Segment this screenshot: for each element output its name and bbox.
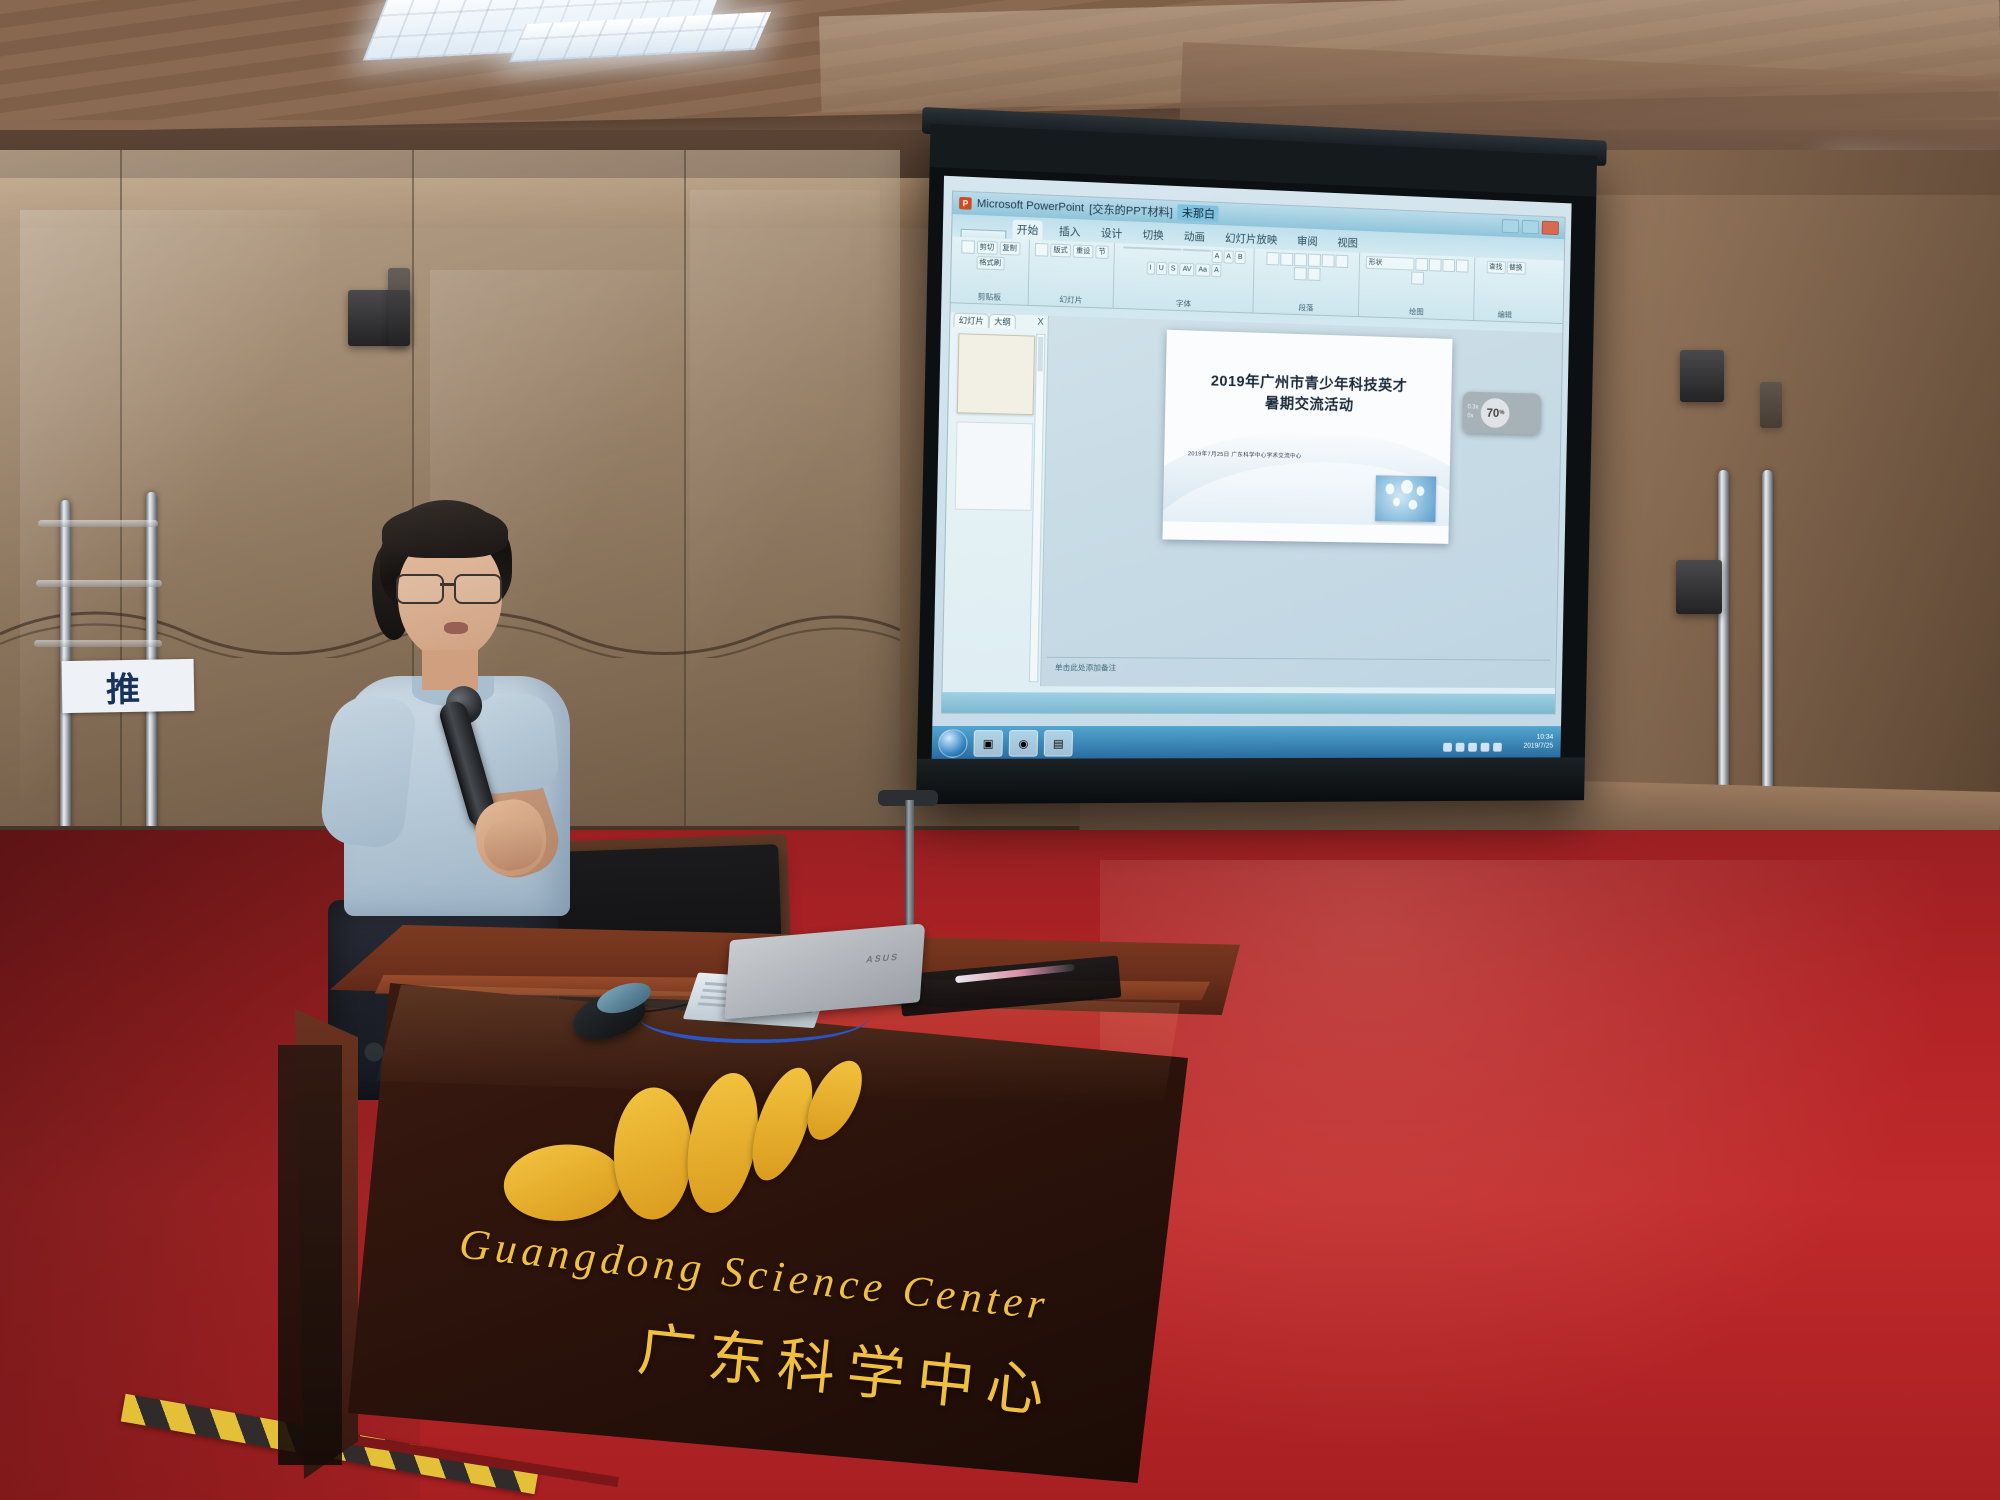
navigator-tabs[interactable]: 幻灯片 大纲 [950, 312, 1048, 329]
presenter-mouth [444, 622, 468, 634]
align-center-icon[interactable] [1307, 254, 1320, 267]
laptop-brand-label: ASUS [865, 952, 900, 965]
shrink-font-icon[interactable]: A [1223, 250, 1234, 263]
ribbon-group-font[interactable]: A A B I U S AV Aa A 字体 [1114, 243, 1255, 313]
restore-icon[interactable] [1522, 220, 1539, 234]
wall-speaker-side [388, 268, 410, 346]
media-player-icon[interactable]: ▣ [973, 730, 1003, 757]
ribbon-group-clipboard[interactable]: 剪切 复制 格式刷 剪贴板 [951, 237, 1030, 305]
powerpoint-workspace: 幻灯片 大纲 X [943, 312, 1563, 688]
reset-button[interactable]: 重设 [1073, 244, 1094, 258]
tab-insert[interactable]: 插入 [1055, 221, 1085, 241]
network-icon[interactable] [1456, 743, 1465, 752]
volume-icon[interactable] [1493, 743, 1502, 752]
compat-mode-tag: 未那白 [1178, 204, 1219, 222]
zoom-percent-suffix: % [1499, 410, 1504, 416]
taskbar-clock[interactable]: 10:34 2019/7/25 [1523, 734, 1553, 751]
zoom-percent[interactable]: 70% [1481, 398, 1510, 428]
venue-name-cn: 广东科学中心 [634, 1302, 1160, 1440]
close-panel-icon[interactable]: X [1037, 316, 1043, 326]
venue-name-en: Guangdong Science Center [457, 1220, 1019, 1327]
tab-slideshow[interactable]: 幻灯片放映 [1221, 228, 1282, 249]
format-painter-button[interactable]: 格式刷 [976, 256, 1004, 270]
slide-title[interactable]: 2019年广州市青少年科技英才 暑期交流活动 [1165, 370, 1452, 420]
windows-taskbar[interactable]: ▣ ◉ ▤ 10:34 2019/7/25 [932, 726, 1561, 761]
italic-icon[interactable]: I [1146, 261, 1154, 274]
arrange-icon[interactable] [1415, 258, 1428, 271]
push-door-sign: 推 [62, 659, 195, 713]
slide-photo[interactable] [1375, 475, 1436, 522]
status-bar [942, 692, 1555, 713]
venue-logo: Guangdong Science Center 广东科学中心 [460, 1039, 1120, 1482]
eyeglasses [396, 574, 504, 600]
numbering-icon[interactable] [1280, 252, 1293, 265]
layout-button[interactable]: 版式 [1050, 244, 1071, 258]
shape-effects-icon[interactable] [1411, 271, 1424, 284]
line-spacing-icon[interactable] [1335, 255, 1348, 268]
tab-animations[interactable]: 动画 [1180, 226, 1210, 246]
bullets-icon[interactable] [1266, 252, 1279, 265]
door-handle-crossbar[interactable] [34, 640, 162, 647]
shapes-gallery[interactable]: 形状 [1366, 256, 1415, 271]
copy-button[interactable]: 复制 [999, 242, 1020, 256]
glass-reflection [690, 190, 880, 790]
projected-desktop: P Microsoft PowerPoint [交东的PPT材料] 未那白 [932, 176, 1572, 761]
zoom-line-1: 0.3x [1467, 403, 1478, 412]
zoom-percent-value: 70 [1486, 406, 1499, 420]
slide-navigator-panel[interactable]: 幻灯片 大纲 X [943, 312, 1049, 686]
minimize-icon[interactable] [1502, 219, 1519, 233]
strikethrough-icon[interactable]: S [1168, 262, 1179, 275]
zoom-ratio-lines: 0.3x 0x [1467, 403, 1478, 421]
screen-surface: P Microsoft PowerPoint [交东的PPT材料] 未那白 [932, 176, 1572, 761]
window-controls[interactable] [1502, 219, 1559, 235]
current-slide[interactable]: 2019年广州市青少年科技英才 暑期交流活动 2019年7月25日 广东科学中心… [1162, 330, 1452, 544]
columns-icon[interactable] [1293, 267, 1306, 280]
up-arrow-icon[interactable] [1443, 743, 1452, 752]
clock-time: 10:34 [1524, 734, 1554, 743]
notes-placeholder: 单击此处添加备注 [1055, 663, 1117, 672]
powerpoint-icon: P [959, 197, 972, 210]
slide-thumbnail[interactable] [957, 333, 1035, 415]
font-family-select[interactable] [1123, 246, 1182, 250]
shape-outline-icon[interactable] [1456, 259, 1469, 272]
logo-petal [613, 1087, 693, 1220]
presenter-fringe [382, 506, 508, 558]
quick-styles-icon[interactable] [1429, 258, 1442, 271]
replace-button[interactable]: 替换 [1506, 261, 1525, 274]
group-label-editing: 编辑 [1498, 309, 1513, 321]
bold-icon[interactable]: B [1235, 251, 1246, 264]
wall-speaker [1680, 350, 1724, 402]
tab-outline[interactable]: 大纲 [989, 314, 1016, 329]
text-direction-icon[interactable] [1307, 268, 1320, 281]
change-case-icon[interactable]: Aa [1195, 263, 1210, 277]
clock-date: 2019/7/25 [1523, 743, 1553, 752]
tab-home[interactable]: 开始 [1012, 220, 1042, 241]
slide-thumbnail[interactable] [955, 421, 1034, 511]
slide-bottom-band [1162, 521, 1448, 544]
door-handle-crossbar[interactable] [38, 520, 158, 527]
paste-icon[interactable] [961, 240, 975, 254]
powerpoint-window: P Microsoft PowerPoint [交东的PPT材料] 未那白 [941, 190, 1566, 714]
windows-start-orb-icon[interactable] [938, 729, 968, 758]
security-icon[interactable] [1468, 743, 1477, 752]
document-title: [交东的PPT材料] [1089, 200, 1173, 220]
screen-frame: P Microsoft PowerPoint [交东的PPT材料] 未那白 [916, 124, 1597, 804]
close-icon[interactable] [1542, 221, 1559, 235]
screen-bottom-bar [916, 757, 1585, 804]
ribbon-group-paragraph[interactable]: 段落 [1253, 249, 1360, 317]
logo-petal [501, 1140, 625, 1226]
ribbon-group-slides[interactable]: 版式 重设 节 幻灯片 [1029, 240, 1115, 308]
align-right-icon[interactable] [1321, 254, 1334, 267]
slide-editing-stage[interactable]: 2019年广州市青少年科技英才 暑期交流活动 2019年7月25日 广东科学中心… [1041, 316, 1562, 688]
new-slide-icon[interactable] [1035, 243, 1049, 257]
door-handle-crossbar[interactable] [36, 580, 162, 587]
notes-pane[interactable]: 单击此处添加备注 [1046, 657, 1550, 686]
tab-view[interactable]: 视图 [1333, 233, 1362, 253]
presenter-left-sleeve [318, 692, 417, 850]
wall-speaker [1760, 382, 1782, 428]
group-label-font: 字体 [1176, 298, 1191, 311]
cut-button[interactable]: 剪切 [976, 241, 997, 255]
tab-design[interactable]: 设计 [1097, 223, 1127, 243]
shape-fill-icon[interactable] [1442, 259, 1455, 272]
tab-review[interactable]: 审阅 [1293, 231, 1322, 251]
browser-icon[interactable]: ◉ [1009, 730, 1038, 757]
ribbon-group-editing[interactable]: 查找 替换 编辑 [1474, 257, 1536, 322]
font-size-select[interactable] [1183, 249, 1211, 252]
system-tray[interactable] [1443, 743, 1502, 752]
app-title: Microsoft PowerPoint [977, 198, 1084, 215]
ribbon-group-drawing[interactable]: 形状 绘图 [1359, 253, 1475, 320]
wall-speaker [1676, 560, 1722, 614]
find-button[interactable]: 查找 [1486, 261, 1505, 274]
push-sign-label: 推 [106, 661, 151, 711]
grow-font-icon[interactable]: A [1211, 250, 1222, 263]
group-label-paragraph: 段落 [1298, 302, 1313, 314]
section-button[interactable]: 节 [1095, 245, 1109, 259]
tab-transitions[interactable]: 切换 [1138, 225, 1168, 245]
presenter-neck [422, 650, 478, 690]
group-label-slides: 幻灯片 [1059, 294, 1082, 307]
group-label-clipboard: 剪贴板 [978, 291, 1002, 304]
zoom-overlay-badge[interactable]: 0.3x 0x 70% [1462, 392, 1541, 435]
conference-room-photo: 推 P Microsoft PowerPoint [交东 [0, 0, 2000, 1500]
char-spacing-icon[interactable]: AV [1179, 263, 1194, 277]
zoom-line-2: 0x [1467, 412, 1478, 421]
laptop-lid: ASUS [724, 923, 925, 1019]
podium-side-panel [278, 1045, 342, 1465]
font-color-icon[interactable]: A [1211, 264, 1222, 277]
underline-icon[interactable]: U [1155, 262, 1166, 276]
tab-slides[interactable]: 幻灯片 [953, 313, 989, 328]
align-left-icon[interactable] [1294, 253, 1307, 266]
projection-screen: P Microsoft PowerPoint [交东的PPT材料] 未那白 [930, 140, 1610, 820]
group-label-drawing: 绘图 [1409, 306, 1424, 318]
shield-icon[interactable] [1481, 743, 1490, 752]
document-icon[interactable]: ▤ [1044, 730, 1073, 756]
